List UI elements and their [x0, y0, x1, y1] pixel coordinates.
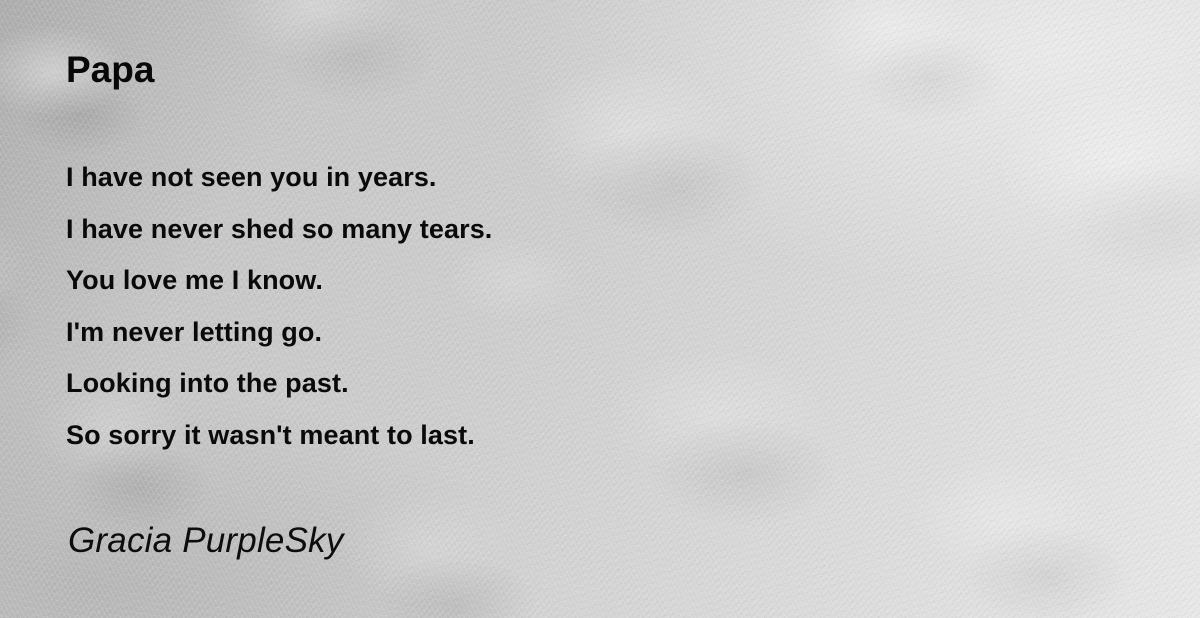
poem-line: So sorry it wasn't meant to last.: [66, 410, 492, 462]
poem-line: I'm never letting go.: [66, 307, 492, 359]
author-signature: Gracia PurpleSky: [68, 521, 344, 561]
poem-line: I have not seen you in years.: [66, 152, 492, 204]
poem-image-card: Papa I have not seen you in years. I hav…: [0, 0, 1200, 618]
poem-line: Looking into the past.: [66, 358, 492, 410]
poem-content: Papa I have not seen you in years. I hav…: [0, 0, 1200, 618]
poem-line: You love me I know.: [66, 255, 492, 307]
poem-line: I have never shed so many tears.: [66, 204, 492, 256]
page-title: Papa: [66, 50, 154, 91]
poem-body: I have not seen you in years. I have nev…: [66, 152, 492, 461]
